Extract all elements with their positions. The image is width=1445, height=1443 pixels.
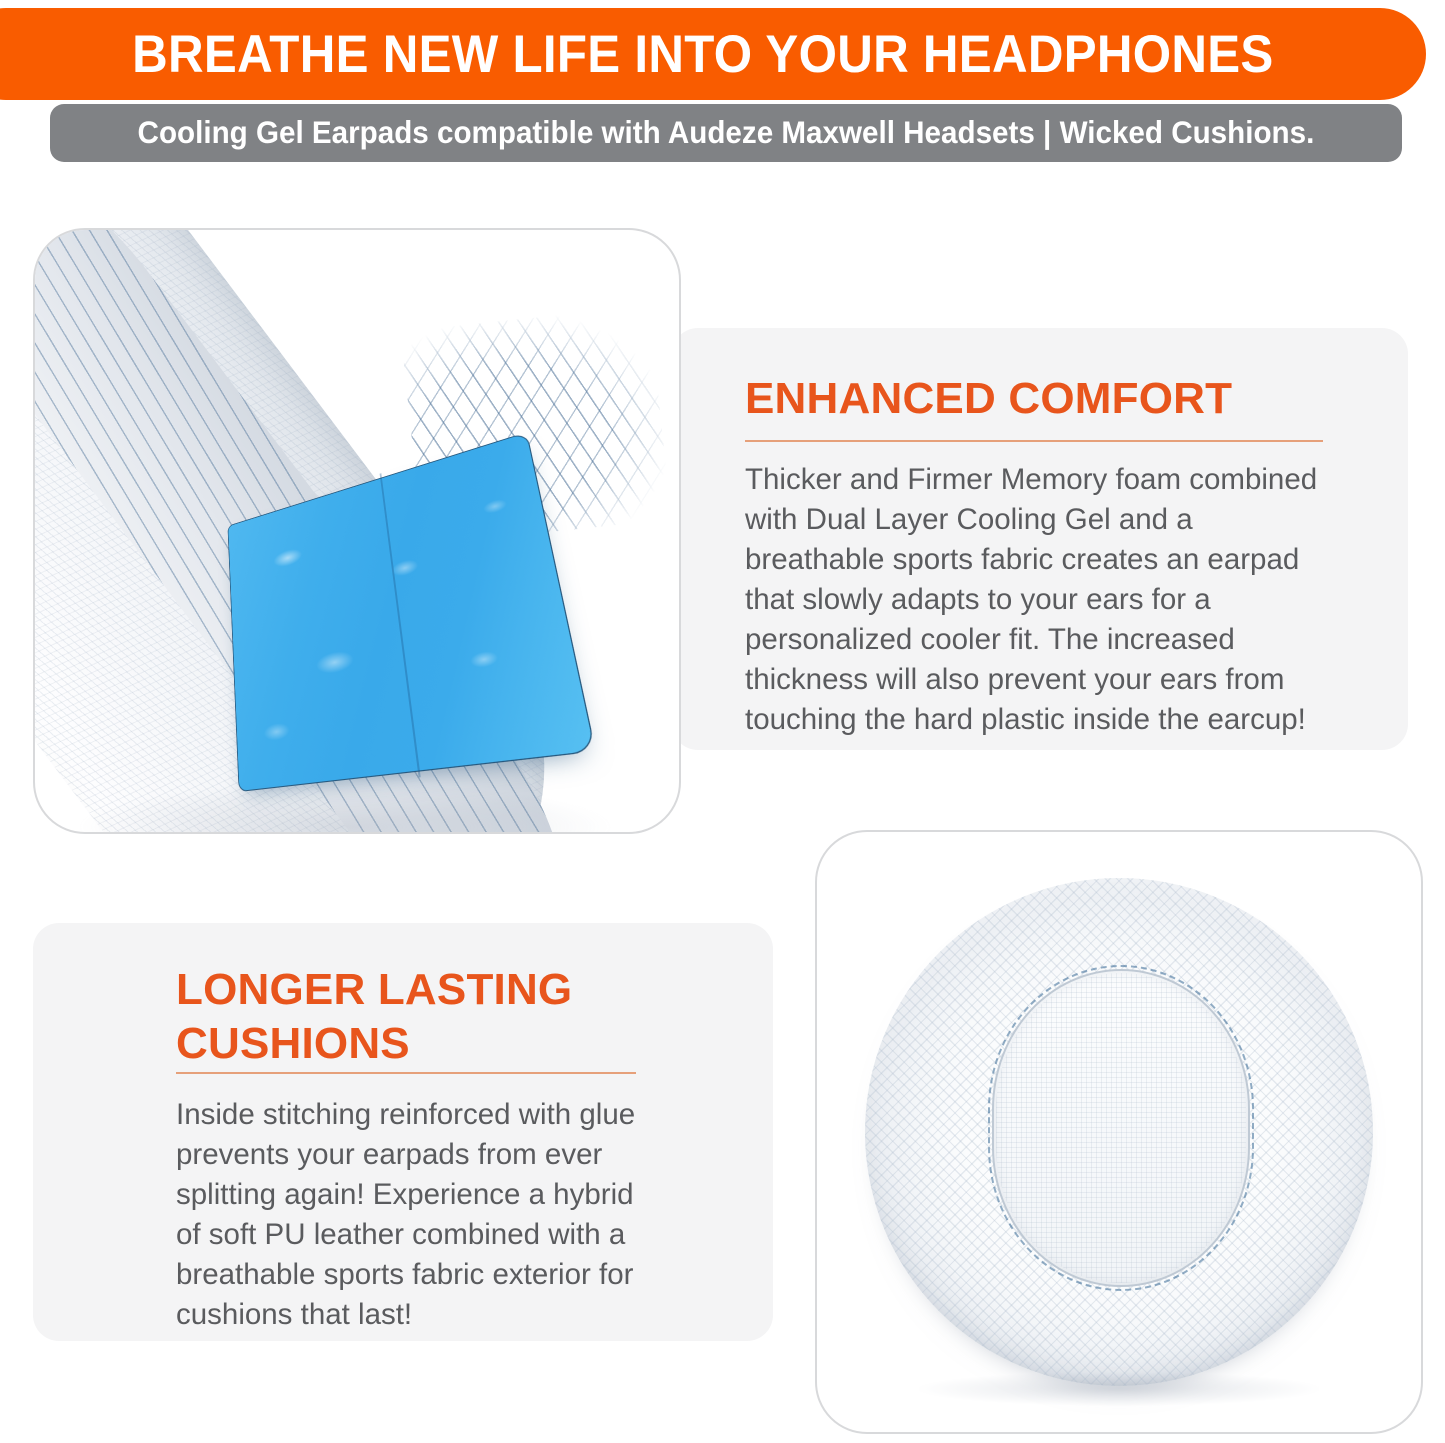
earpad-drop-shadow: [75, 782, 615, 832]
subheadline-banner: Cooling Gel Earpads compatible with Aude…: [50, 104, 1402, 162]
feature-body-longer-lasting-cushions: Inside stitching reinforced with glue pr…: [176, 1095, 648, 1335]
photo-cooling-gel-closeup: [33, 228, 681, 834]
feature-heading-longer-lasting-cushions: LONGER LASTING CUSHIONS: [176, 963, 636, 1070]
feature-body-enhanced-comfort: Thicker and Firmer Memory foam combined …: [745, 460, 1329, 740]
subheadline-text: Cooling Gel Earpads compatible with Aude…: [138, 117, 1315, 149]
feature-divider-enhanced-comfort: [745, 440, 1323, 442]
headline-banner: BREATHE NEW LIFE INTO YOUR HEADPHONES: [0, 8, 1426, 100]
photo-earpad-front: [815, 830, 1423, 1434]
earpad-illustration: [817, 832, 1421, 1432]
feature-divider-longer-lasting-cushions: [176, 1072, 636, 1074]
headline-text: BREATHE NEW LIFE INTO YOUR HEADPHONES: [112, 28, 1274, 81]
cooling-gel-illustration: [35, 230, 679, 832]
feature-heading-enhanced-comfort: ENHANCED COMFORT: [745, 372, 1385, 426]
earpad-drop-shadow: [919, 1372, 1319, 1406]
earpad-inner-opening: [992, 969, 1250, 1287]
